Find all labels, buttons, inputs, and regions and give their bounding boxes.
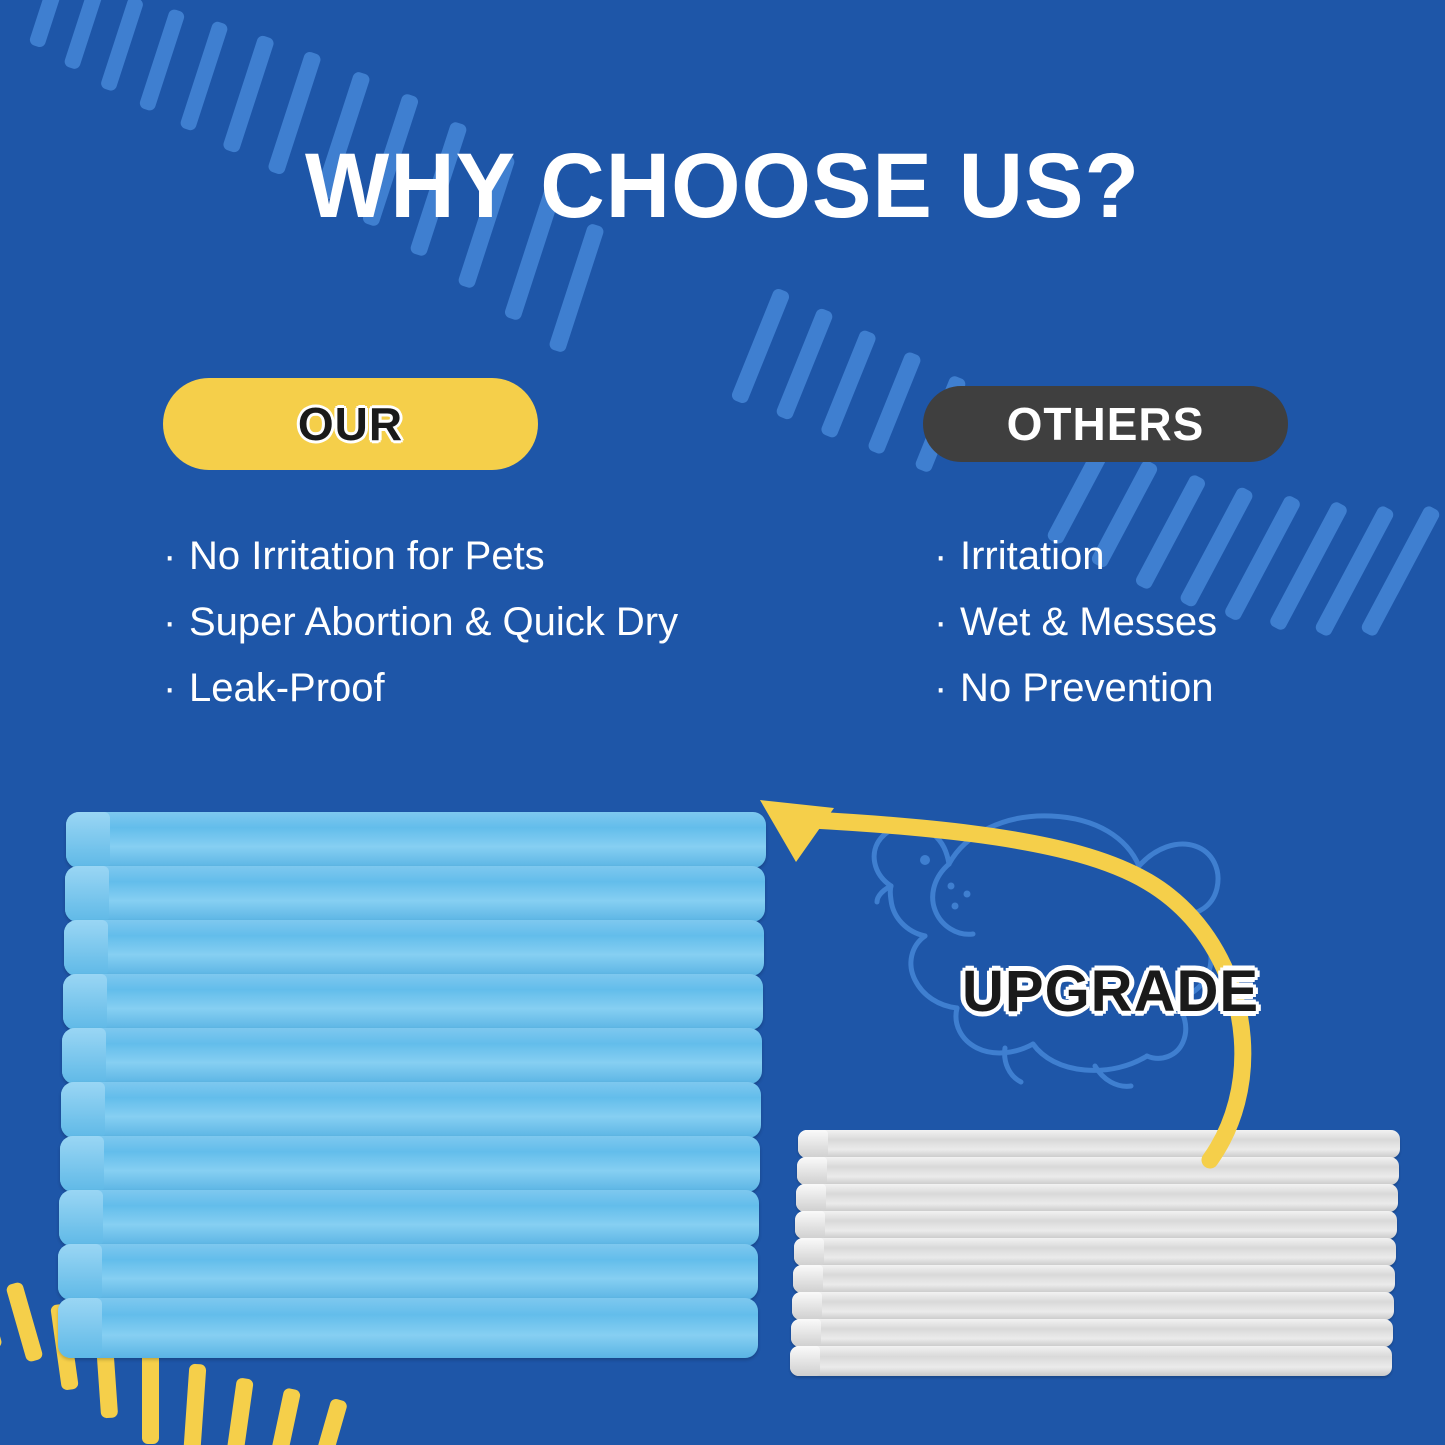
stripe <box>138 8 185 112</box>
bullet-icon: · <box>163 523 189 589</box>
product-pad-grey <box>795 1211 1397 1239</box>
stripe <box>0 1275 3 1351</box>
list-item: ·No Prevention <box>934 655 1217 721</box>
pad-edge <box>64 920 108 976</box>
product-pad-blue <box>64 920 764 976</box>
pad-edge <box>66 812 110 868</box>
pad-edge <box>61 1082 105 1138</box>
bullet-icon: · <box>934 655 960 721</box>
others-feature-list: ·Irritation ·Wet & Messes ·No Prevention <box>934 523 1217 721</box>
product-pad-grey <box>794 1238 1396 1266</box>
stripe <box>730 287 791 405</box>
pad-edge <box>60 1136 104 1192</box>
bullet-icon: · <box>163 655 189 721</box>
list-item-label: Wet & Messes <box>960 600 1217 644</box>
our-column-pill: OUR <box>163 378 538 470</box>
stripe <box>5 1281 43 1363</box>
product-pad-blue <box>65 866 765 922</box>
product-pad-blue <box>59 1190 759 1246</box>
product-pad-grey <box>792 1292 1394 1320</box>
product-pad-grey <box>793 1265 1395 1293</box>
product-pad-blue <box>60 1136 760 1192</box>
pad-edge <box>792 1292 822 1320</box>
stripe <box>305 1398 348 1445</box>
others-pill-label: OTHERS <box>1007 397 1205 451</box>
list-item-label: Irritation <box>960 534 1105 578</box>
stripe <box>28 0 67 49</box>
pad-edge <box>791 1319 821 1347</box>
stripe <box>223 1377 254 1445</box>
stripe <box>1223 494 1302 622</box>
our-product-stack <box>58 812 768 1372</box>
product-pad-blue <box>66 812 766 868</box>
bullet-icon: · <box>934 589 960 655</box>
our-feature-list: ·No Irritation for Pets ·Super Abortion … <box>163 523 678 721</box>
list-item: ·Leak-Proof <box>163 655 678 721</box>
product-pad-blue <box>61 1082 761 1138</box>
stripe <box>548 223 605 354</box>
list-item: ·Wet & Messes <box>934 589 1217 655</box>
pad-edge <box>62 1028 106 1084</box>
list-item-label: Leak-Proof <box>189 666 385 710</box>
stripe <box>179 20 229 131</box>
upgrade-badge: UPGRADE <box>962 958 1259 1025</box>
pad-edge <box>63 974 107 1030</box>
product-pad-blue <box>62 1028 762 1084</box>
stripe <box>1314 504 1396 637</box>
pad-edge <box>65 866 109 922</box>
list-item: ·Irritation <box>934 523 1217 589</box>
product-pad-grey <box>791 1319 1393 1347</box>
stripe <box>63 0 105 70</box>
pad-edge <box>59 1190 103 1246</box>
stripe <box>264 1387 301 1445</box>
list-item-label: No Prevention <box>960 666 1213 710</box>
pad-edge <box>794 1238 824 1266</box>
stripe <box>1360 504 1442 637</box>
stripe <box>867 351 922 456</box>
pad-edge <box>58 1298 102 1358</box>
stripe <box>100 0 145 92</box>
stripe <box>775 307 834 421</box>
product-pad-grey <box>790 1346 1392 1376</box>
product-pad-blue <box>58 1244 758 1300</box>
product-pad-blue <box>63 974 763 1030</box>
stripe <box>820 329 878 439</box>
page-title: WHY CHOOSE US? <box>22 134 1424 239</box>
bullet-icon: · <box>934 523 960 589</box>
list-item-label: Super Abortion & Quick Dry <box>189 600 678 644</box>
our-pill-label: OUR <box>298 397 403 451</box>
pad-edge <box>790 1346 820 1376</box>
pad-edge <box>58 1244 102 1300</box>
stripe <box>1268 500 1349 632</box>
list-item: ·No Irritation for Pets <box>163 523 678 589</box>
pad-edge <box>795 1211 825 1239</box>
pad-edge <box>793 1265 823 1293</box>
infographic-page: WHY CHOOSE US? OUR OTHERS ·No Irritation… <box>0 0 1445 1445</box>
list-item: ·Super Abortion & Quick Dry <box>163 589 678 655</box>
product-pad-blue <box>58 1298 758 1358</box>
stripe <box>183 1364 207 1445</box>
list-item-label: No Irritation for Pets <box>189 534 545 578</box>
others-column-pill: OTHERS <box>923 386 1288 462</box>
bullet-icon: · <box>163 589 189 655</box>
